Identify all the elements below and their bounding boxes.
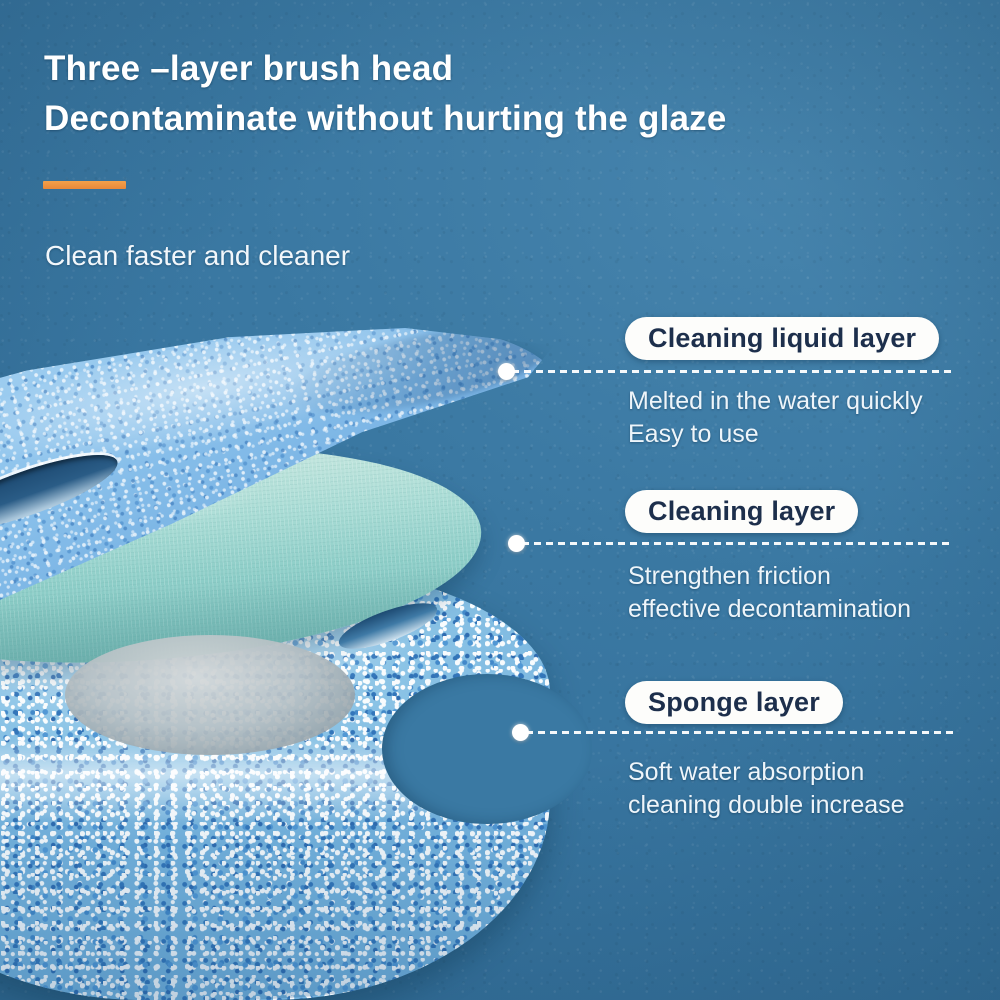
callout-description-cleaning-layer-line1: Strengthen friction (628, 560, 831, 593)
leader-line-sponge-layer (526, 731, 954, 734)
headline-block: Three –layer brush head Decontaminate wi… (44, 44, 944, 144)
callout-label-cleaning-liquid-layer[interactable]: Cleaning liquid layer (625, 317, 939, 360)
leader-line-cleaning-layer (522, 542, 954, 545)
leader-line-cleaning-liquid-layer (512, 370, 954, 373)
product-infographic: Three –layer brush head Decontaminate wi… (0, 0, 1000, 1000)
callout-label-sponge-layer[interactable]: Sponge layer (625, 681, 843, 724)
callout-description-cleaning-layer-line2: effective decontamination (628, 593, 911, 626)
title-line-1: Three –layer brush head (44, 44, 944, 94)
callout-description-sponge-layer-line2: cleaning double increase (628, 789, 905, 822)
accent-divider (43, 181, 126, 189)
sponge-notch-cutout (382, 674, 592, 824)
product-illustration (0, 255, 650, 1000)
callout-description-cleaning-liquid-layer-line1: Melted in the water quickly (628, 385, 923, 418)
callout-description-sponge-layer-line1: Soft water absorption (628, 756, 864, 789)
title-line-2: Decontaminate without hurting the glaze (44, 94, 944, 144)
subtitle: Clean faster and cleaner (45, 236, 350, 276)
center-disc (65, 635, 355, 755)
callout-label-cleaning-layer[interactable]: Cleaning layer (625, 490, 858, 533)
callout-description-cleaning-liquid-layer-line2: Easy to use (628, 418, 759, 451)
